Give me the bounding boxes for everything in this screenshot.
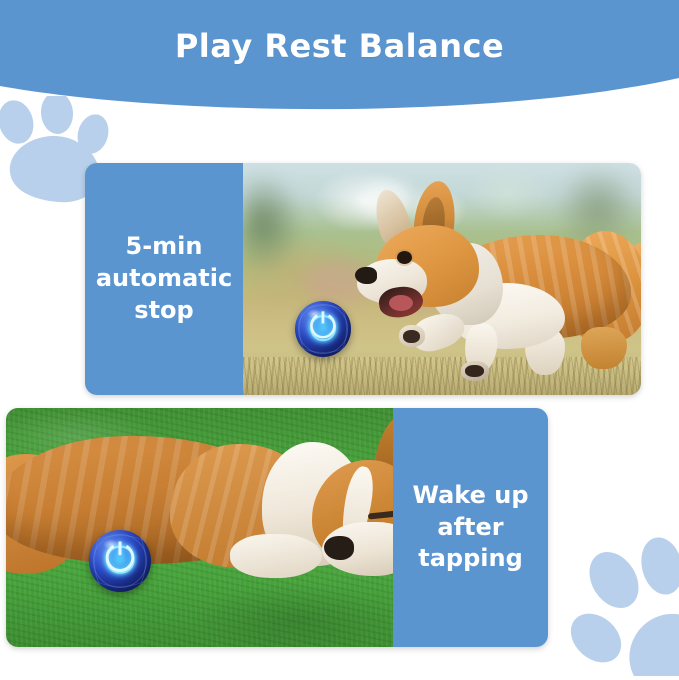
card-text-panel: Wake up after tapping <box>393 408 548 647</box>
ball-specular-highlight <box>307 309 322 319</box>
ball-specular-highlight <box>103 539 119 550</box>
running-corgi-photo: ⏻ <box>243 163 641 395</box>
feature-card-wake-up: ⏻ Wake up after tapping <box>6 408 548 647</box>
dog-nose <box>355 267 377 284</box>
glowing-blue-ball: ⏻ <box>295 301 351 357</box>
glowing-blue-ball: ⏻ <box>89 530 151 592</box>
feature-card-auto-stop: 5-min automatic stop ⏻ <box>85 163 641 395</box>
dog-paw-pad <box>465 365 484 377</box>
corgi-dog-sleeping <box>6 416 393 616</box>
header-banner: Play Rest Balance <box>0 0 679 120</box>
dog-paw-pad <box>403 330 420 343</box>
dog-paw <box>230 534 322 578</box>
sleeping-corgi-photo: ⏻ <box>6 408 393 647</box>
paw-print-icon <box>566 536 679 680</box>
header-curve-shape <box>0 0 679 120</box>
card-caption: 5-min automatic stop <box>88 231 240 326</box>
card-caption: Wake up after tapping <box>404 480 536 575</box>
dog-hind-leg <box>581 327 627 369</box>
background-foliage <box>243 163 323 281</box>
card-text-panel: 5-min automatic stop <box>85 163 243 395</box>
corgi-dog-running <box>357 191 641 381</box>
dog-nose <box>324 536 354 560</box>
dog-eye <box>397 251 412 264</box>
dog-tongue <box>389 295 413 311</box>
